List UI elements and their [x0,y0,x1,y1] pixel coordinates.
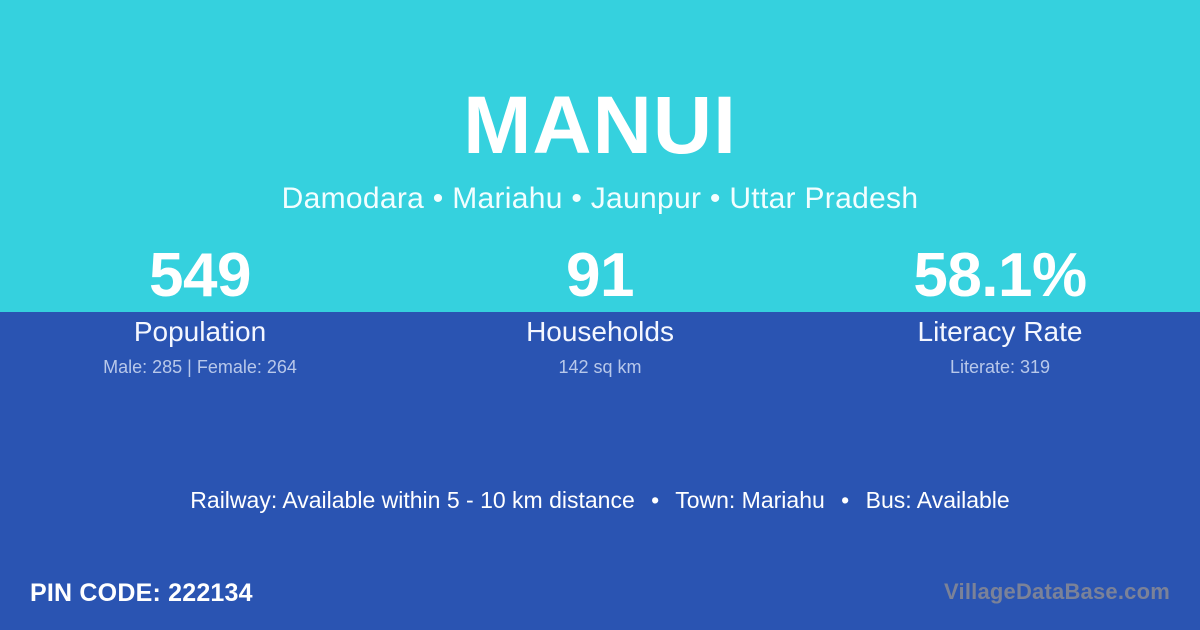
card-header: MANUI Damodara • Mariahu • Jaunpur • Utt… [0,0,1200,216]
stat-literacy-rate: 58.1% Literacy Rate Literate: 319 [800,244,1200,378]
stat-label: Population [0,316,400,348]
town-info: Town: Mariahu [675,487,825,513]
stat-population: 549 Population Male: 285 | Female: 264 [0,244,400,378]
railway-info: Railway: Available within 5 - 10 km dist… [190,487,634,513]
stat-value: 549 [0,244,400,308]
stat-sublabel: Male: 285 | Female: 264 [0,356,400,378]
breadcrumb: Damodara • Mariahu • Jaunpur • Uttar Pra… [0,168,1200,216]
brand-watermark: VillageDataBase.com [944,579,1170,605]
info-separator: • [641,485,669,515]
stats-row: 549 Population Male: 285 | Female: 264 9… [0,244,1200,378]
card-footer: PIN CODE: 222134 VillageDataBase.com [0,560,1200,630]
amenities-info-line: Railway: Available within 5 - 10 km dist… [0,485,1200,515]
stat-sublabel: Literate: 319 [800,356,1200,378]
stat-households: 91 Households 142 sq km [400,244,800,378]
pin-code: PIN CODE: 222134 [30,579,253,607]
stat-label: Literacy Rate [800,316,1200,348]
stat-value: 91 [400,244,800,308]
bus-info: Bus: Available [866,487,1010,513]
page-title: MANUI [0,0,1200,168]
stat-label: Households [400,316,800,348]
stat-value: 58.1% [800,244,1200,308]
stat-sublabel: 142 sq km [400,356,800,378]
info-separator: • [831,485,859,515]
village-info-card: MANUI Damodara • Mariahu • Jaunpur • Utt… [0,0,1200,630]
